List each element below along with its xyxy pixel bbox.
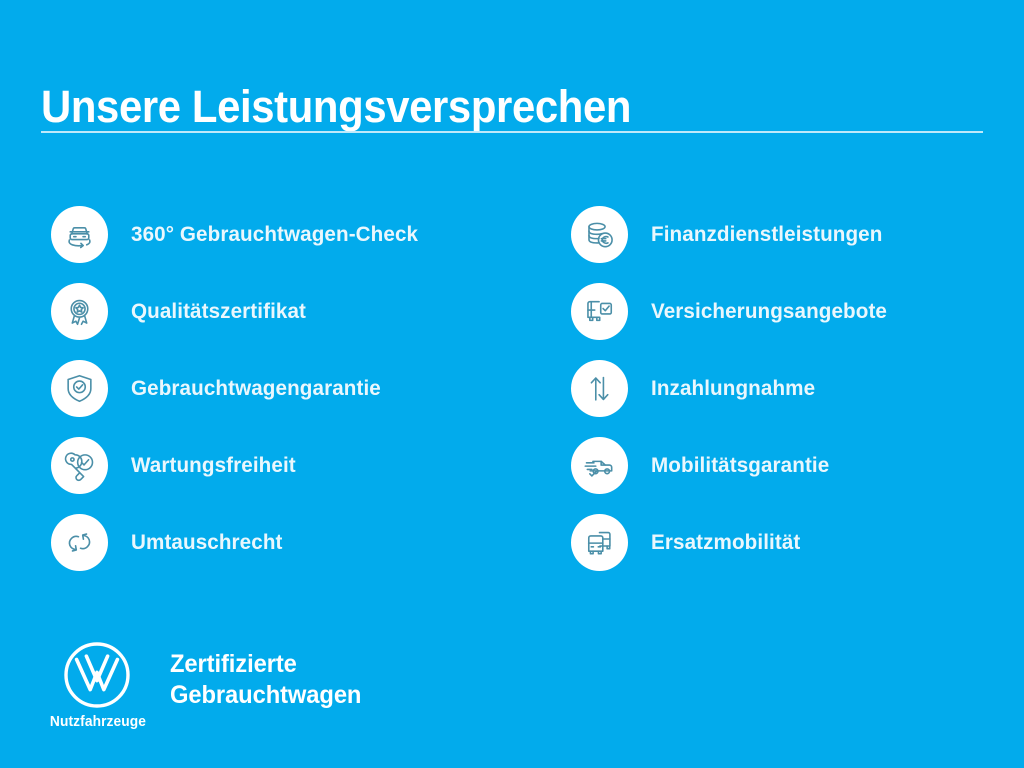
two-vans-icon	[571, 514, 628, 571]
feature-label: Wartungsfreiheit	[131, 453, 296, 478]
feature-column-right: Finanzdienstleistungen Versicherungsange…	[571, 196, 1011, 581]
feature-label: Versicherungsangebote	[651, 299, 887, 324]
car-360-check-icon	[51, 206, 108, 263]
feature-item-qualitaetszertifikat[interactable]: Qualitätszertifikat	[51, 273, 521, 350]
feature-item-gebrauchtwagengarantie[interactable]: Gebrauchtwagengarantie	[51, 350, 521, 427]
van-checklist-icon	[571, 283, 628, 340]
feature-item-ersatzmobilitaet[interactable]: Ersatzmobilität	[571, 504, 1011, 581]
feature-label: Qualitätszertifikat	[131, 299, 306, 324]
feature-item-gebrauchtwagen-check[interactable]: 360° Gebrauchtwagen-Check	[51, 196, 521, 273]
feature-item-versicherungsangebote[interactable]: Versicherungsangebote	[571, 273, 1011, 350]
logo-subtitle: Nutzfahrzeuge	[43, 714, 153, 730]
feature-label: Gebrauchtwagengarantie	[131, 376, 381, 401]
feature-label: Umtauschrecht	[131, 530, 283, 555]
van-motion-icon	[571, 437, 628, 494]
feature-item-inzahlungnahme[interactable]: Inzahlungnahme	[571, 350, 1011, 427]
feature-column-left: 360° Gebrauchtwagen-Check Qualitätszerti…	[51, 196, 521, 581]
brand-claim: Zertifizierte Gebrauchtwagen	[170, 649, 361, 711]
shield-check-icon	[51, 360, 108, 417]
feature-item-wartungsfreiheit[interactable]: Wartungsfreiheit	[51, 427, 521, 504]
volkswagen-logo-icon	[61, 639, 133, 711]
feature-item-umtauschrecht[interactable]: Umtauschrecht	[51, 504, 521, 581]
feature-label: Mobilitätsgarantie	[651, 453, 829, 478]
feature-label: 360° Gebrauchtwagen-Check	[131, 222, 418, 247]
feature-label: Ersatzmobilität	[651, 530, 800, 555]
arrows-up-down-icon	[571, 360, 628, 417]
brand-claim-line-2: Gebrauchtwagen	[170, 680, 361, 711]
feature-label: Inzahlungnahme	[651, 376, 815, 401]
feature-item-finanzdienstleistungen[interactable]: Finanzdienstleistungen	[571, 196, 1011, 273]
feature-item-mobilitaetsgarantie[interactable]: Mobilitätsgarantie	[571, 427, 1011, 504]
brand-lockup: Nutzfahrzeuge Zertifizierte Gebrauchtwag…	[40, 636, 640, 736]
wrench-check-icon	[51, 437, 108, 494]
exchange-arrows-icon	[51, 514, 108, 571]
coins-euro-icon	[571, 206, 628, 263]
title-divider	[41, 131, 983, 133]
brand-claim-line-1: Zertifizierte	[170, 649, 361, 680]
slide-canvas: Unsere Leistungsversprechen 360° Ge	[0, 0, 1024, 768]
award-rosette-icon	[51, 283, 108, 340]
page-title: Unsere Leistungsversprechen	[41, 80, 631, 134]
feature-label: Finanzdienstleistungen	[651, 222, 882, 247]
